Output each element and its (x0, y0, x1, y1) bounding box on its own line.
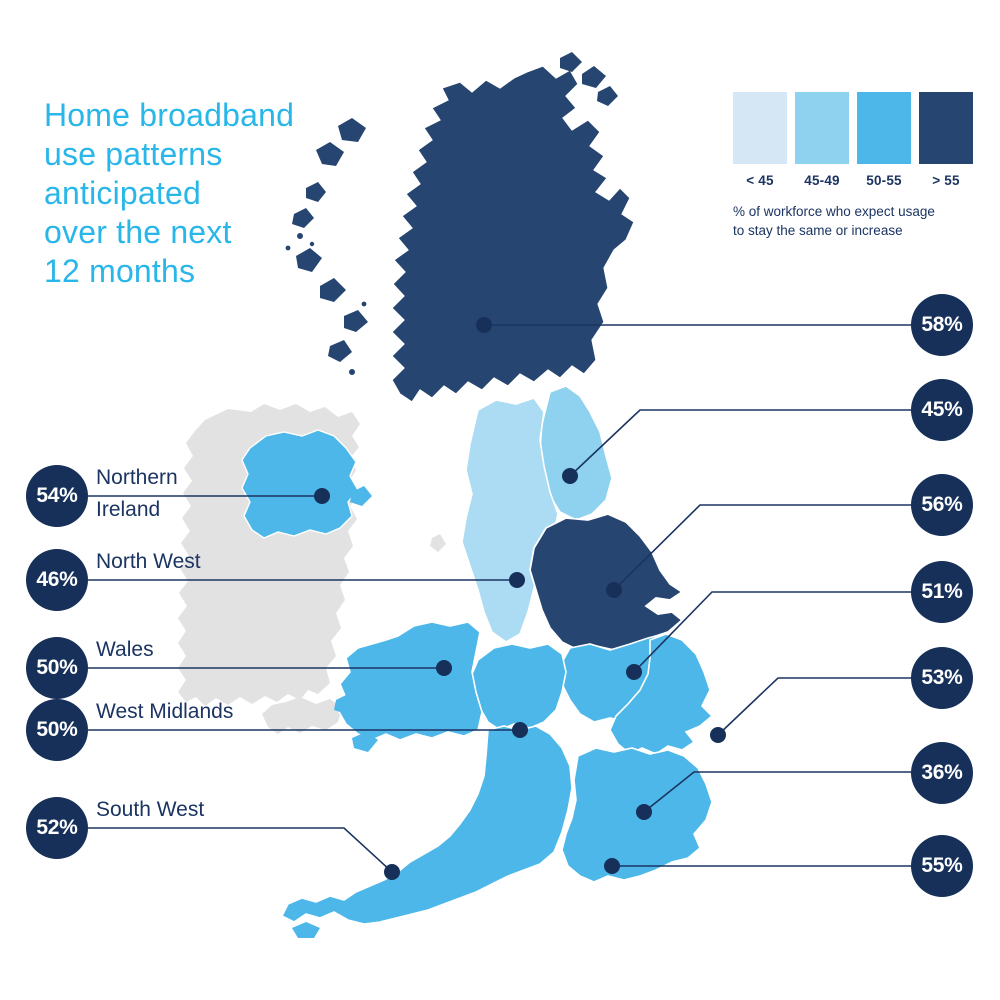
callout-value-north-east: 45% (911, 379, 973, 441)
legend-caption-line-1: % of workforce who expect usage (733, 202, 975, 221)
infographic-map: Home broadband use patterns anticipated … (0, 0, 1000, 1000)
callout-label-south-west: South West (96, 797, 416, 823)
legend-caption-line-2: to stay the same or increase (733, 221, 975, 240)
region-south-west[interactable] (282, 726, 572, 938)
callout-label-west-midlands: West Midlands (96, 699, 416, 725)
callout-value-wales: 50% (26, 637, 88, 699)
region-west-midlands[interactable] (472, 644, 566, 730)
callout-value-northern-ireland: 54% (26, 465, 88, 527)
callout-value-greater-london: 36% (911, 742, 973, 804)
region-yorkshire-and-the-humber[interactable] (530, 514, 682, 650)
region-south-east[interactable] (562, 748, 712, 882)
callout-value-yorkshire: 56% (911, 474, 973, 536)
legend-swatch-45-49 (795, 92, 849, 164)
legend-label-50-55: 50-55 (857, 173, 911, 188)
callout-label-north-west: North West (96, 549, 416, 575)
callout-value-east-of-england: 53% (911, 647, 973, 709)
legend-label-gt55: > 55 (919, 173, 973, 188)
legend-caption: % of workforce who expect usage to stay … (733, 202, 975, 240)
legend: < 45 45-49 50-55 > 55 % of workforce who… (733, 92, 975, 240)
callout-label-wales: Wales (96, 637, 416, 663)
isle-of-man (430, 534, 446, 552)
region-scotland[interactable] (286, 52, 634, 402)
callout-value-north-west: 46% (26, 549, 88, 611)
callout-value-south-west: 52% (26, 797, 88, 859)
callout-value-south-east: 55% (911, 835, 973, 897)
legend-labels: < 45 45-49 50-55 > 55 (733, 173, 975, 188)
legend-label-lt45: < 45 (733, 173, 787, 188)
legend-swatch-gt55 (919, 92, 973, 164)
callout-value-west-midlands: 50% (26, 699, 88, 761)
callout-label-northern-ireland-line-1: Northern (96, 465, 416, 491)
legend-label-45-49: 45-49 (795, 173, 849, 188)
legend-swatches (733, 92, 975, 164)
legend-swatch-lt45 (733, 92, 787, 164)
callout-value-east-midlands: 51% (911, 561, 973, 623)
legend-swatch-50-55 (857, 92, 911, 164)
callout-label-northern-ireland-line-2: Ireland (96, 497, 416, 523)
callout-value-scotland: 58% (911, 294, 973, 356)
